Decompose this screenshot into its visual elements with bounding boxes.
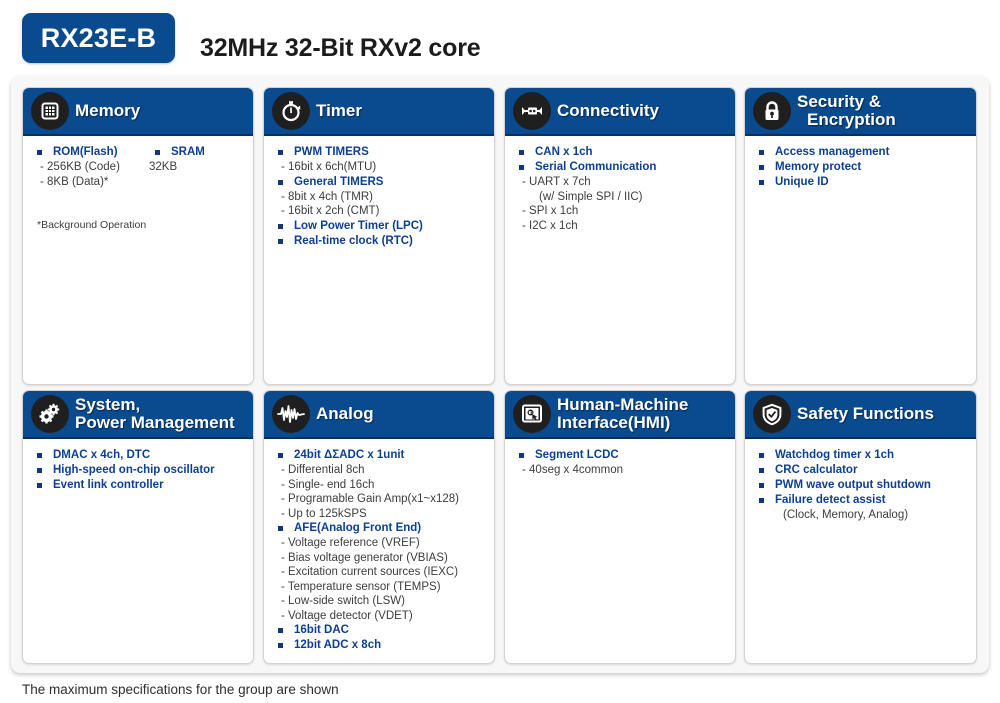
card-security[interactable]: Security & Encryption Access management …: [744, 87, 977, 385]
card-security-title-line1: Security &: [797, 93, 896, 111]
list-item: Watchdog timer x 1ch: [759, 448, 968, 463]
plug-connector-icon: [513, 92, 551, 130]
bullet-label: Failure detect assist: [775, 493, 886, 508]
card-system-power-management[interactable]: System, Power Management DMAC x 4ch, DTC…: [22, 390, 254, 664]
bullet-square-icon: [278, 224, 283, 229]
sub-label: - 8KB (Data)*: [40, 175, 245, 190]
bullet-label: Serial Communication: [535, 160, 656, 175]
list-item: Serial Communication: [519, 160, 727, 175]
bullet-label: DMAC x 4ch, DTC: [53, 448, 150, 463]
list-item: CAN x 1ch: [519, 145, 727, 160]
bullet-label: Low Power Timer (LPC): [294, 219, 423, 234]
card-safety-functions[interactable]: Safety Functions Watchdog timer x 1ch CR…: [744, 390, 977, 664]
feature-panel: Memory ROM(Flash) SRAM - 256KB (Code): [11, 76, 989, 673]
card-safety-title: Safety Functions: [797, 391, 934, 437]
card-hmi-header: Human-Machine Interface(HMI): [505, 391, 735, 439]
list-item: ROM(Flash): [37, 145, 245, 160]
card-memory-header: Memory: [23, 88, 253, 136]
card-safety-title-line1: Safety Functions: [797, 405, 934, 423]
bullet-square-icon: [37, 150, 42, 155]
bullet-label: Memory protect: [775, 160, 861, 175]
list-item: PWM wave output shutdown: [759, 478, 968, 493]
bullet-label: Event link controller: [53, 478, 164, 493]
list-item: Real-time clock (RTC): [278, 234, 486, 249]
card-security-body: Access management Memory protect Unique …: [745, 136, 976, 196]
sub-label: - 16bit x 2ch (CMT): [281, 204, 486, 219]
bullet-label: PWM wave output shutdown: [775, 478, 931, 493]
sub-label: (Clock, Memory, Analog): [783, 508, 968, 523]
slide-root: RX23E-B 32MHz 32-Bit RXv2 core: [0, 0, 1000, 703]
bullet-label: Watchdog timer x 1ch: [775, 448, 894, 463]
list-item: High-speed on-chip oscillator: [37, 463, 245, 478]
sub-label: - Low-side switch (LSW): [281, 594, 486, 609]
list-item: Memory protect: [759, 160, 968, 175]
list-item: Unique ID: [759, 175, 968, 190]
memory-footnote: *Background Operation: [37, 218, 245, 232]
card-memory[interactable]: Memory ROM(Flash) SRAM - 256KB (Code): [22, 87, 254, 385]
bullet-label: Access management: [775, 145, 889, 160]
list-item: DMAC x 4ch, DTC: [37, 448, 245, 463]
bullet-label: PWM TIMERS: [294, 145, 369, 160]
shield-check-icon: [753, 395, 791, 433]
list-item: AFE(Analog Front End): [278, 521, 486, 536]
footer-note: The maximum specifications for the group…: [22, 682, 339, 697]
bullet-square-icon: [37, 468, 42, 473]
bullet-square-icon: [519, 453, 524, 458]
stopwatch-icon: [272, 92, 310, 130]
sub-label: - 8bit x 4ch (TMR): [281, 190, 486, 205]
sub-label: - Temperature sensor (TEMPS): [281, 580, 486, 595]
list-item: General TIMERS: [278, 175, 486, 190]
bullet-label: AFE(Analog Front End): [294, 521, 421, 536]
card-hmi-title: Human-Machine Interface(HMI): [557, 391, 688, 437]
sub-label: - SPI x 1ch: [522, 204, 727, 219]
list-item: PWM TIMERS: [278, 145, 486, 160]
card-connectivity-header: Connectivity: [505, 88, 735, 136]
card-system-title-line2: Power Management: [75, 414, 235, 432]
list-item: Event link controller: [37, 478, 245, 493]
sub-label: 32KB: [149, 160, 177, 175]
card-timer-header: Timer: [264, 88, 494, 136]
bullet-square-icon: [278, 150, 283, 155]
bullet-square-icon: [759, 165, 764, 170]
card-memory-body: ROM(Flash) SRAM - 256KB (Code) 32KB - 8K…: [23, 136, 253, 238]
sub-label: - Voltage detector (VDET): [281, 609, 486, 624]
list-item: Low Power Timer (LPC): [278, 219, 486, 234]
card-system-title: System, Power Management: [75, 391, 235, 437]
header: RX23E-B 32MHz 32-Bit RXv2 core: [0, 0, 1000, 72]
bullet-label: 24bit ΔΣADC x 1unit: [294, 448, 404, 463]
spacer: [31, 204, 245, 218]
bullet-label: Unique ID: [775, 175, 829, 190]
bullet-square-icon: [37, 453, 42, 458]
memory-chip-icon: [31, 92, 69, 130]
bullet-square-icon: [278, 239, 283, 244]
card-analog-title: Analog: [316, 391, 374, 437]
bullet-square-icon: [759, 453, 764, 458]
sub-label: - Voltage reference (VREF): [281, 536, 486, 551]
card-analog-title-line1: Analog: [316, 405, 374, 423]
card-timer-body: PWM TIMERS - 16bit x 6ch(MTU) General TI…: [264, 136, 494, 255]
bullet-square-icon: [759, 498, 764, 503]
list-item: Segment LCDC: [519, 448, 727, 463]
card-security-title-line2: Encryption: [797, 111, 896, 129]
card-safety-body: Watchdog timer x 1ch CRC calculator PWM …: [745, 439, 976, 529]
bullet-label: CAN x 1ch: [535, 145, 593, 160]
list-item: SRAM: [155, 145, 205, 160]
sub-label: - 256KB (Code): [40, 160, 245, 175]
memory-row-headers: ROM(Flash) SRAM: [31, 145, 245, 160]
card-hmi-title-line1: Human-Machine: [557, 396, 688, 414]
bullet-label: High-speed on-chip oscillator: [53, 463, 215, 478]
card-system-body: DMAC x 4ch, DTC High-speed on-chip oscil…: [23, 439, 253, 499]
bullet-label: Segment LCDC: [535, 448, 619, 463]
sub-label: - Differential 8ch: [281, 463, 486, 478]
card-security-header: Security & Encryption: [745, 88, 976, 136]
sub-label: - Programable Gain Amp(x1~x128): [281, 492, 486, 507]
card-connectivity-title: Connectivity: [557, 88, 659, 134]
core-title: 32MHz 32-Bit RXv2 core: [200, 34, 480, 63]
bullet-square-icon: [759, 180, 764, 185]
bullet-square-icon: [278, 526, 283, 531]
sub-label: - Single- end 16ch: [281, 478, 486, 493]
bullet-square-icon: [37, 483, 42, 488]
sub-label: - I2C x 1ch: [522, 219, 727, 234]
card-timer[interactable]: Timer PWM TIMERS - 16bit x 6ch(MTU) Gene…: [263, 87, 495, 385]
bullet-label: CRC calculator: [775, 463, 857, 478]
bullet-label: General TIMERS: [294, 175, 383, 190]
card-connectivity-title-line1: Connectivity: [557, 102, 659, 120]
sub-label: (w/ Simple SPI / IIC): [539, 190, 727, 205]
bullet-square-icon: [278, 453, 283, 458]
lock-icon: [753, 92, 791, 130]
sub-label: - 16bit x 6ch(MTU): [281, 160, 486, 175]
bullet-square-icon: [278, 628, 283, 633]
bullet-square-icon: [278, 643, 283, 648]
waveform-icon: [272, 395, 310, 433]
card-memory-title: Memory: [75, 88, 140, 134]
bullet-label: ROM(Flash): [53, 145, 118, 160]
bullet-square-icon: [519, 150, 524, 155]
bullet-square-icon: [519, 165, 524, 170]
bullet-square-icon: [759, 150, 764, 155]
bullet-label: Real-time clock (RTC): [294, 234, 413, 249]
bullet-square-icon: [278, 180, 283, 185]
list-item: Access management: [759, 145, 968, 160]
part-number-badge: RX23E-B: [22, 13, 175, 63]
card-security-title: Security & Encryption: [797, 88, 896, 134]
list-item: CRC calculator: [759, 463, 968, 478]
bullet-square-icon: [759, 468, 764, 473]
bullet-label: SRAM: [171, 145, 205, 160]
memory-row-values: - 256KB (Code) 32KB: [31, 160, 245, 175]
sub-label: - UART x 7ch: [522, 175, 727, 190]
spacer: [31, 190, 245, 204]
card-hmi-body: Segment LCDC - 40seg x 4common: [505, 439, 735, 484]
card-timer-title: Timer: [316, 88, 362, 134]
sub-label: - Bias voltage generator (VBIAS): [281, 551, 486, 566]
card-memory-title-line1: Memory: [75, 102, 140, 120]
list-item: Failure detect assist: [759, 493, 968, 508]
card-system-header: System, Power Management: [23, 391, 253, 439]
bullet-square-icon: [155, 150, 160, 155]
sub-label: - Excitation current sources (IEXC): [281, 565, 486, 580]
card-analog[interactable]: Analog 24bit ΔΣADC x 1unit - Differentia…: [263, 390, 495, 664]
sub-label: - 40seg x 4common: [522, 463, 727, 478]
card-human-machine-interface[interactable]: Human-Machine Interface(HMI) Segment LCD…: [504, 390, 736, 664]
gears-icon: [31, 395, 69, 433]
bullet-label: 12bit ADC x 8ch: [294, 638, 381, 653]
card-hmi-title-line2: Interface(HMI): [557, 414, 688, 432]
sub-label: - Up to 125kSPS: [281, 507, 486, 522]
card-safety-header: Safety Functions: [745, 391, 976, 439]
card-connectivity[interactable]: Connectivity CAN x 1ch Serial Communicat…: [504, 87, 736, 385]
list-item: 16bit DAC: [278, 623, 486, 638]
list-item: 24bit ΔΣADC x 1unit: [278, 448, 486, 463]
bullet-label: 16bit DAC: [294, 623, 349, 638]
bullet-square-icon: [759, 483, 764, 488]
touch-display-icon: [513, 395, 551, 433]
list-item: 12bit ADC x 8ch: [278, 638, 486, 653]
card-system-title-line1: System,: [75, 396, 235, 414]
card-connectivity-body: CAN x 1ch Serial Communication - UART x …: [505, 136, 735, 239]
card-analog-header: Analog: [264, 391, 494, 439]
card-timer-title-line1: Timer: [316, 102, 362, 120]
card-analog-body: 24bit ΔΣADC x 1unit - Differential 8ch -…: [264, 439, 494, 659]
